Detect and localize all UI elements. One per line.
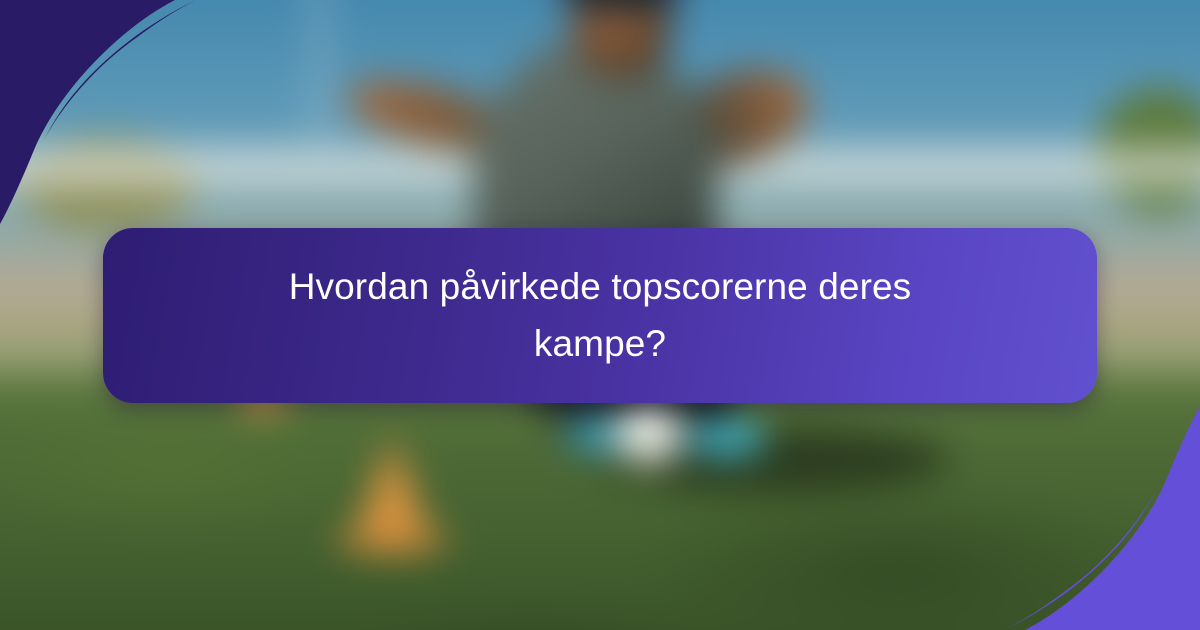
title-banner: Hvordan påvirkede topscorerne deres kamp… xyxy=(103,228,1097,403)
player-shoe-right xyxy=(689,420,765,456)
social-card: Hvordan påvirkede topscorerne deres kamp… xyxy=(0,0,1200,630)
floodlight-pole xyxy=(316,0,323,140)
training-cone-near xyxy=(354,437,430,539)
soccer-ball xyxy=(615,403,685,464)
training-cone-near-base xyxy=(337,528,447,553)
page-title: Hvordan påvirkede topscorerne deres kamp… xyxy=(260,259,940,371)
